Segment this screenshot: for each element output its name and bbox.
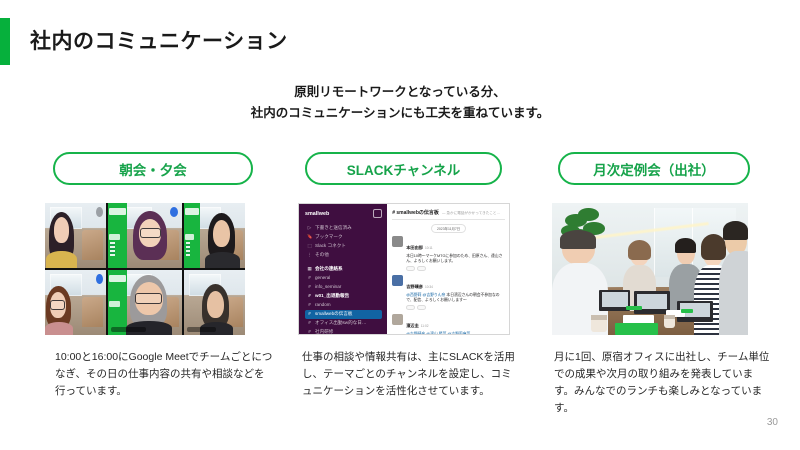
meet-mute-badge bbox=[96, 274, 103, 284]
google-meet-screenshot bbox=[45, 203, 245, 335]
plant-leaf bbox=[578, 208, 598, 221]
slide: 社内のコミュニケーション 原則リモートワークとなっている分、 社内のコミュニケー… bbox=[0, 0, 800, 450]
column-header-pill-2: 月次定例会（出社） bbox=[558, 152, 750, 185]
sidebar-item-bookmarks[interactable]: 🔖 ブックマーク bbox=[305, 233, 382, 242]
person-right-foreground bbox=[723, 221, 748, 335]
add-reaction-icon[interactable] bbox=[417, 266, 426, 271]
meet-tile-1 bbox=[45, 203, 106, 268]
slack-channel-header: # smallwebの伝言板 — 急かに電話がかかってきたこと… bbox=[392, 209, 505, 220]
meet-tile-2 bbox=[108, 203, 182, 268]
avatar bbox=[392, 275, 403, 286]
sidebar-item-slack-connect[interactable]: ⬚ Slack コネクト bbox=[305, 242, 382, 251]
slack-workspace-name: smallweb bbox=[305, 211, 329, 217]
channel-label: 会社の連絡系 bbox=[315, 267, 343, 272]
office-scene bbox=[552, 203, 748, 335]
laptop bbox=[634, 291, 669, 313]
meet-green-virtual-background bbox=[184, 203, 200, 268]
green-bg-caption bbox=[109, 301, 120, 307]
channel-label: general bbox=[315, 276, 330, 281]
person-hair bbox=[675, 238, 696, 253]
mention-link[interactable]: @濱山 陽菜 bbox=[426, 332, 446, 335]
participant-glasses bbox=[50, 300, 65, 310]
message-text-body: 本日濱辺さんの朝会不参加なので、配信、よろしくお願いします〜 bbox=[406, 293, 499, 302]
message-body: 濱辺圭11:02 @吉野晴彦 @濱山 陽菜 @吉野莉麻菜 MTG少々に思います午… bbox=[406, 314, 505, 335]
person-hair bbox=[723, 221, 747, 239]
bookmark-icon: 🔖 bbox=[307, 235, 312, 240]
avatar bbox=[392, 314, 403, 325]
slack-message: 本田由那10:11 本日10時〜マーケMTGに参加のため、田原さん、遠山さん、よ… bbox=[392, 236, 505, 271]
green-marker bbox=[681, 309, 693, 313]
column-caption-0: 10:00と16:00にGoogle Meetでチームごとにつなぎ、その日の仕事… bbox=[55, 349, 273, 400]
column-slack-channel: SLACKチャンネル smallweb ▷ 下書きと送信済み 🔖 ブックマーク bbox=[290, 152, 535, 400]
meet-green-virtual-background bbox=[108, 203, 127, 268]
column-header-pill-0: 朝会・夕会 bbox=[53, 152, 253, 185]
channel-item-info-seminar[interactable]: # info_seminar bbox=[305, 283, 382, 292]
sidebar-item-label: その他 bbox=[315, 253, 329, 258]
mention-link[interactable]: @西野莉 bbox=[406, 293, 421, 297]
date-label[interactable]: 2023年11月7日 bbox=[431, 224, 466, 233]
channel-item-general[interactable]: # general bbox=[305, 274, 382, 283]
channel-item-random[interactable]: # random bbox=[305, 301, 382, 310]
slack-connect-icon: ⬚ bbox=[307, 244, 312, 249]
slack-message: 吉野晴彦10:34 @西野莉 @吉野りん奈 本日濱辺さんの朝会不参加なので、配信… bbox=[392, 275, 505, 310]
drafts-icon: ▷ bbox=[307, 226, 312, 231]
sidebar-item-label: Slack コネクト bbox=[315, 244, 346, 249]
sidebar-item-label: ブックマーク bbox=[315, 235, 343, 240]
slack-sidebar: smallweb ▷ 下書きと送信済み 🔖 ブックマーク ⬚ Slack コネク… bbox=[299, 204, 387, 334]
message-body: 本田由那10:11 本日10時〜マーケMTGに参加のため、田原さん、遠山さん、よ… bbox=[406, 236, 505, 271]
slack-screenshot: smallweb ▷ 下書きと送信済み 🔖 ブックマーク ⬚ Slack コネク… bbox=[298, 203, 510, 335]
participant-head bbox=[213, 220, 230, 247]
channel-label: w01_出退勤報告 bbox=[315, 294, 349, 299]
sidebar-item-drafts-sent[interactable]: ▷ 下書きと送信済み bbox=[305, 224, 382, 233]
subtitle-line-1: 原則リモートワークとなっている分、 bbox=[0, 82, 800, 103]
green-bg-logo bbox=[109, 275, 125, 282]
reaction-chip[interactable] bbox=[406, 266, 415, 271]
green-bg-logo bbox=[109, 208, 125, 215]
participant-head bbox=[54, 217, 70, 243]
channel-label: random bbox=[315, 303, 331, 308]
message-author: 吉野晴彦 bbox=[406, 284, 423, 289]
person-hair bbox=[560, 230, 596, 249]
meet-tile-6 bbox=[184, 270, 245, 335]
channel-label: 社内研修 bbox=[315, 330, 333, 335]
meet-tile-3 bbox=[184, 203, 245, 268]
green-bg-qr-code bbox=[186, 242, 190, 256]
hash-icon: # bbox=[307, 303, 312, 308]
avatar bbox=[392, 236, 403, 247]
participant-head bbox=[207, 291, 224, 318]
page-title: 社内のコミュニケーション bbox=[30, 25, 288, 55]
compose-icon[interactable] bbox=[373, 209, 382, 218]
meet-mute-badge bbox=[96, 207, 103, 217]
hash-icon: # bbox=[307, 285, 312, 290]
slack-workspace-row[interactable]: smallweb bbox=[305, 209, 382, 218]
channel-label: オフィス出勤sw的な日… bbox=[315, 321, 366, 326]
message-text: @西野莉 @吉野りん奈 本日濱辺さんの朝会不参加なので、配信、よろしくお願いしま… bbox=[406, 293, 505, 303]
reaction-chip[interactable] bbox=[406, 305, 415, 310]
green-marker bbox=[626, 306, 642, 310]
green-bg-logo bbox=[185, 208, 198, 215]
title-accent-bar bbox=[0, 18, 10, 65]
person-torso bbox=[719, 251, 748, 335]
meet-participant-grid bbox=[45, 203, 245, 335]
meet-tile-4 bbox=[45, 270, 106, 335]
page-number: 30 bbox=[767, 417, 778, 428]
channel-item-office-attendance[interactable]: # オフィス出勤sw的な日… bbox=[305, 319, 382, 328]
slack-window: smallweb ▷ 下書きと送信済み 🔖 ブックマーク ⬚ Slack コネク… bbox=[298, 203, 510, 335]
channel-label: info_seminar bbox=[315, 285, 341, 290]
message-time: 10:11 bbox=[425, 246, 433, 250]
green-notebook bbox=[615, 323, 658, 335]
message-time: 11:02 bbox=[421, 324, 429, 328]
green-bg-caption bbox=[109, 234, 120, 240]
reaction-bar[interactable] bbox=[406, 266, 505, 271]
coffee-cup bbox=[664, 315, 676, 328]
slack-channel-topic: — 急かに電話がかかってきたこと… bbox=[442, 211, 500, 216]
person-hair bbox=[628, 240, 651, 261]
hash-icon: # bbox=[307, 294, 312, 299]
mention-link[interactable]: @吉野莉麻菜 bbox=[447, 332, 470, 335]
mention-link[interactable]: @吉野晴彦 bbox=[406, 332, 425, 335]
column-header-pill-1: SLACKチャンネル bbox=[305, 152, 502, 185]
more-icon: ⋮ bbox=[307, 253, 312, 258]
hash-icon: # bbox=[307, 321, 312, 326]
message-author: 濱辺圭 bbox=[406, 323, 419, 328]
green-bg-qr-code bbox=[110, 242, 115, 256]
column-monthly-meeting: 月次定例会（出社） bbox=[540, 152, 785, 417]
channel-section-header[interactable]: ▦ 会社の連絡系 bbox=[305, 265, 382, 274]
office-meeting-photo bbox=[552, 203, 748, 335]
meet-green-virtual-background bbox=[108, 270, 127, 335]
channel-item-message-board-selected[interactable]: # smallwebの伝言板 bbox=[305, 310, 382, 319]
date-divider-1: 2023年11月7日 bbox=[392, 224, 505, 233]
hash-icon: # bbox=[307, 312, 312, 317]
subtitle: 原則リモートワークとなっている分、 社内のコミュニケーションにも工夫を重ねていま… bbox=[0, 82, 800, 123]
meet-participant-name-label bbox=[187, 327, 216, 332]
slack-channel-title: # smallwebの伝言板 bbox=[392, 209, 439, 216]
column-morning-evening-meeting: 朝会・夕会 bbox=[45, 152, 290, 400]
channel-label: smallwebの伝言板 bbox=[315, 312, 353, 317]
column-caption-2: 月に1回、原宿オフィスに出社し、チーム単位での成果や次月の取り組みを発表していま… bbox=[554, 349, 772, 417]
subtitle-line-2: 社内のコミュニケーションにも工夫を重ねています。 bbox=[0, 103, 800, 124]
add-reaction-icon[interactable] bbox=[417, 305, 426, 310]
participant-glasses bbox=[135, 293, 162, 303]
meet-participant-name-label bbox=[111, 327, 147, 332]
sidebar-item-more[interactable]: ⋮ その他 bbox=[305, 251, 382, 260]
meet-tile-5 bbox=[108, 270, 182, 335]
message-text: 本日10時〜マーケMTGに参加のため、田原さん、遠山さん、よろしくお願いします。 bbox=[406, 254, 505, 264]
message-text: @吉野晴彦 @濱山 陽菜 @吉野莉麻菜 bbox=[406, 332, 505, 335]
hash-icon: # bbox=[307, 276, 312, 281]
slack-message-pane: # smallwebの伝言板 — 急かに電話がかかってきたこと… 2023年11… bbox=[387, 204, 509, 334]
reaction-bar[interactable] bbox=[406, 305, 505, 310]
section-icon: ▦ bbox=[307, 267, 312, 272]
message-time: 10:34 bbox=[425, 285, 433, 289]
participant-body bbox=[205, 252, 240, 268]
hash-icon: # bbox=[307, 330, 312, 335]
column-caption-1: 仕事の相談や情報共有は、主にSLACKを活用し、テーマごとのチャンネルを設定し、… bbox=[302, 349, 520, 400]
message-body: 吉野晴彦10:34 @西野莉 @吉野りん奈 本日濱辺さんの朝会不参加なので、配信… bbox=[406, 275, 505, 310]
participant-glasses bbox=[140, 228, 161, 238]
message-author: 本田由那 bbox=[406, 245, 423, 250]
channel-item-internal-training[interactable]: # 社内研修 bbox=[305, 328, 382, 335]
slack-message: 濱辺圭11:02 @吉野晴彦 @濱山 陽菜 @吉野莉麻菜 MTG少々に思います午… bbox=[392, 314, 505, 335]
participant-body bbox=[46, 251, 76, 268]
coffee-cup bbox=[591, 315, 607, 332]
participant-body bbox=[45, 322, 73, 335]
mention-link[interactable]: @吉野りん奈 bbox=[423, 293, 446, 297]
channel-item-attendance[interactable]: # w01_出退勤報告 bbox=[305, 292, 382, 301]
sidebar-item-label: 下書きと送信済み bbox=[315, 226, 352, 231]
green-bg-caption bbox=[185, 234, 194, 240]
